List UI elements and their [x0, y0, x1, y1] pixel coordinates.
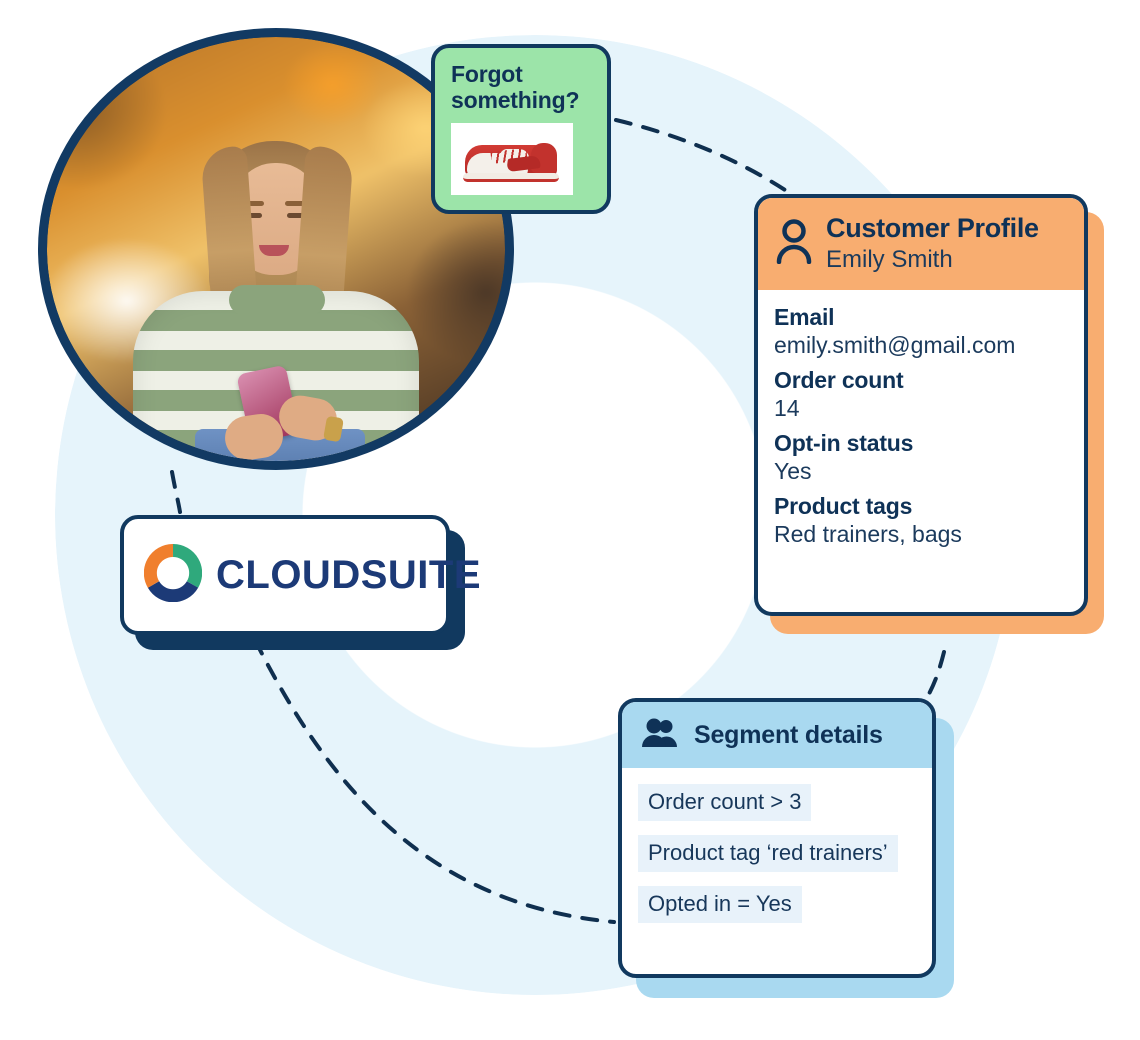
segment-details-title: Segment details — [694, 721, 883, 750]
diagram-canvas: Forgot something? — [0, 0, 1140, 1040]
segment-details-card[interactable]: Segment details Order count > 3 Product … — [618, 698, 936, 978]
forgot-something-card[interactable]: Forgot something? — [431, 44, 611, 214]
red-sneaker-icon — [463, 139, 561, 187]
forgot-card-title: Forgot something? — [451, 62, 591, 114]
field-value-product-tags: Red trainers, bags — [774, 521, 1068, 548]
field-value-email: emily.smith@gmail.com — [774, 332, 1068, 359]
person-illustration — [121, 129, 431, 461]
person-icon — [774, 218, 814, 269]
customer-name: Emily Smith — [826, 247, 1039, 272]
segment-criterion-order-count[interactable]: Order count > 3 — [638, 784, 811, 821]
customer-profile-body: Email emily.smith@gmail.com Order count … — [758, 290, 1084, 566]
customer-profile-title: Customer Profile — [826, 214, 1039, 242]
field-label-email: Email — [774, 304, 1068, 331]
segment-details-header: Segment details — [622, 702, 932, 768]
field-label-order-count: Order count — [774, 367, 1068, 394]
field-value-opt-in-status: Yes — [774, 458, 1068, 485]
segment-criterion-opted-in[interactable]: Opted in = Yes — [638, 886, 802, 923]
person-sweater-collar — [229, 285, 325, 315]
forgot-card-title-line2: something? — [451, 88, 591, 114]
product-image-frame — [451, 123, 573, 195]
cloudsuite-wordmark: CLOUDSUITE — [216, 553, 481, 598]
customer-profile-header: Customer Profile Emily Smith — [758, 198, 1084, 290]
forgot-card-title-line1: Forgot — [451, 62, 591, 88]
customer-profile-card[interactable]: Customer Profile Emily Smith Email emily… — [754, 194, 1088, 616]
field-label-product-tags: Product tags — [774, 493, 1068, 520]
segment-criterion-product-tag[interactable]: Product tag ‘red trainers’ — [638, 835, 898, 872]
sneaker-sole — [463, 173, 559, 182]
cloudsuite-ring-icon — [144, 544, 202, 607]
segment-criteria-list: Order count > 3 Product tag ‘red trainer… — [622, 768, 932, 939]
cloudsuite-logo-card[interactable]: CLOUDSUITE — [120, 515, 450, 635]
customer-profile-header-texts: Customer Profile Emily Smith — [826, 214, 1039, 272]
people-group-icon — [640, 718, 680, 753]
field-value-order-count: 14 — [774, 395, 1068, 422]
field-label-opt-in-status: Opt-in status — [774, 430, 1068, 457]
